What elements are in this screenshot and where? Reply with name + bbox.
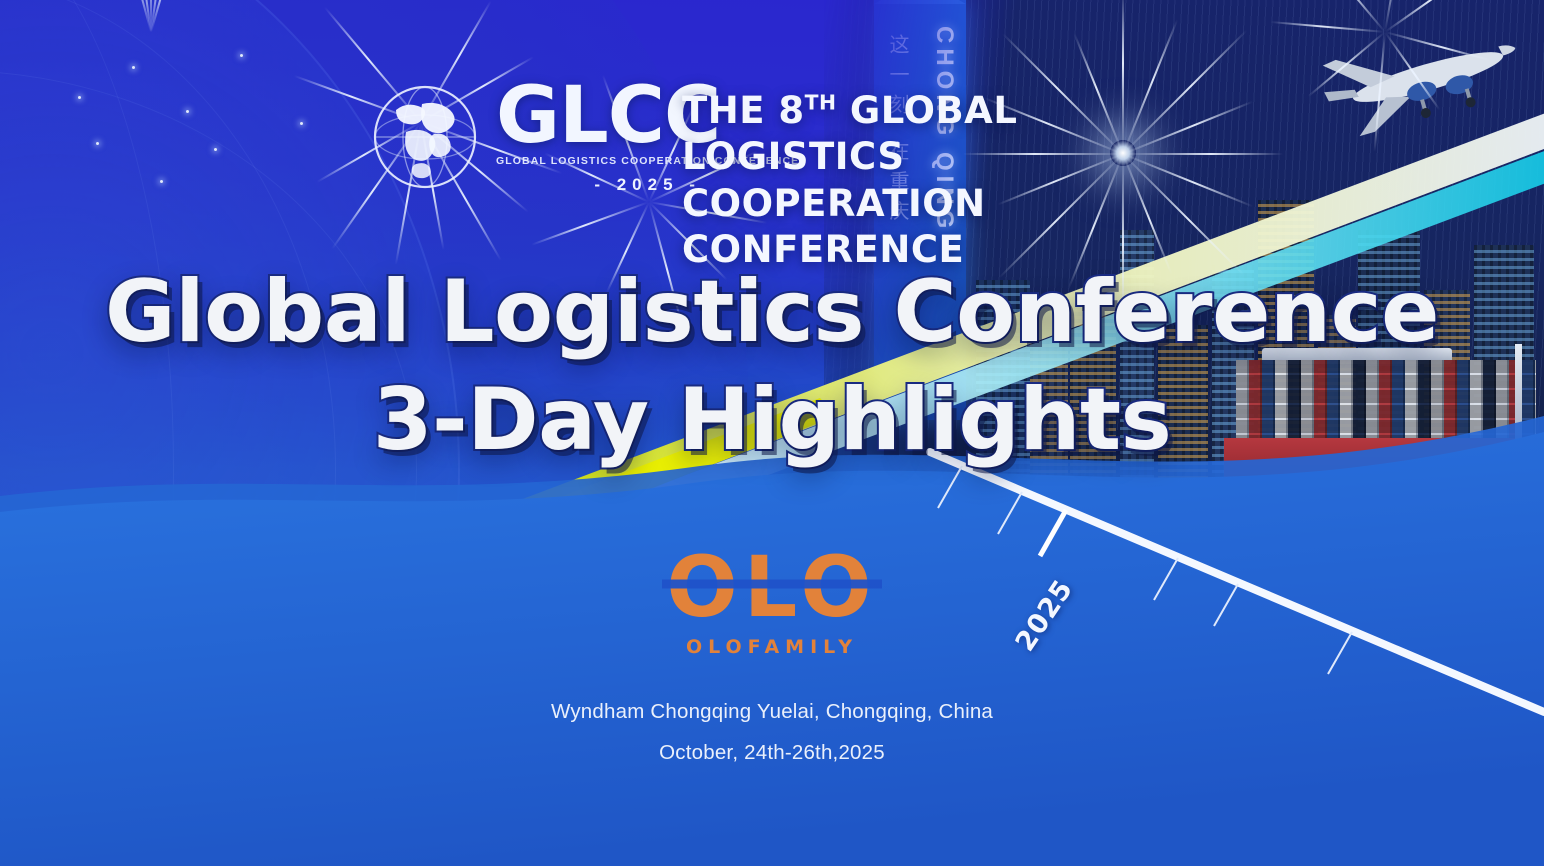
olo-wordmark: OLOFAMILY	[0, 636, 1544, 658]
firework-spark	[186, 110, 189, 113]
conference-heading-line1: THE 8TH GLOBAL LOGISTICS	[682, 88, 1222, 181]
olo-mark: OLO	[666, 545, 877, 629]
firework-spark	[78, 96, 81, 99]
title-line-2: 3-Day Highlights	[0, 366, 1544, 474]
conference-ordinal-prefix: THE 8	[682, 89, 805, 132]
date-text: October, 24th-26th,2025	[0, 741, 1544, 765]
firework-spark	[214, 148, 217, 151]
firework-spark	[96, 142, 99, 145]
firework-spark	[132, 66, 135, 69]
firework-spark	[300, 122, 303, 125]
airplane-icon	[1311, 22, 1526, 142]
event-details: Wyndham Chongqing Yuelai, Chongqing, Chi…	[0, 700, 1544, 765]
firework-spark	[160, 180, 163, 183]
firework-spark	[240, 54, 243, 57]
sponsor-logo: OLO OLOFAMILY	[0, 545, 1544, 658]
globe-icon	[372, 84, 478, 190]
conference-heading: THE 8TH GLOBAL LOGISTICS COOPERATION CON…	[682, 88, 1222, 273]
title-line-1: Global Logistics Conference	[0, 258, 1544, 366]
venue-text: Wyndham Chongqing Yuelai, Chongqing, Chi…	[0, 700, 1544, 724]
page-title: Global Logistics Conference 3-Day Highli…	[0, 258, 1544, 475]
conference-ordinal-suffix: TH	[805, 91, 837, 115]
promo-banner: CHONG QING 这一刻 在重庆	[0, 0, 1544, 866]
